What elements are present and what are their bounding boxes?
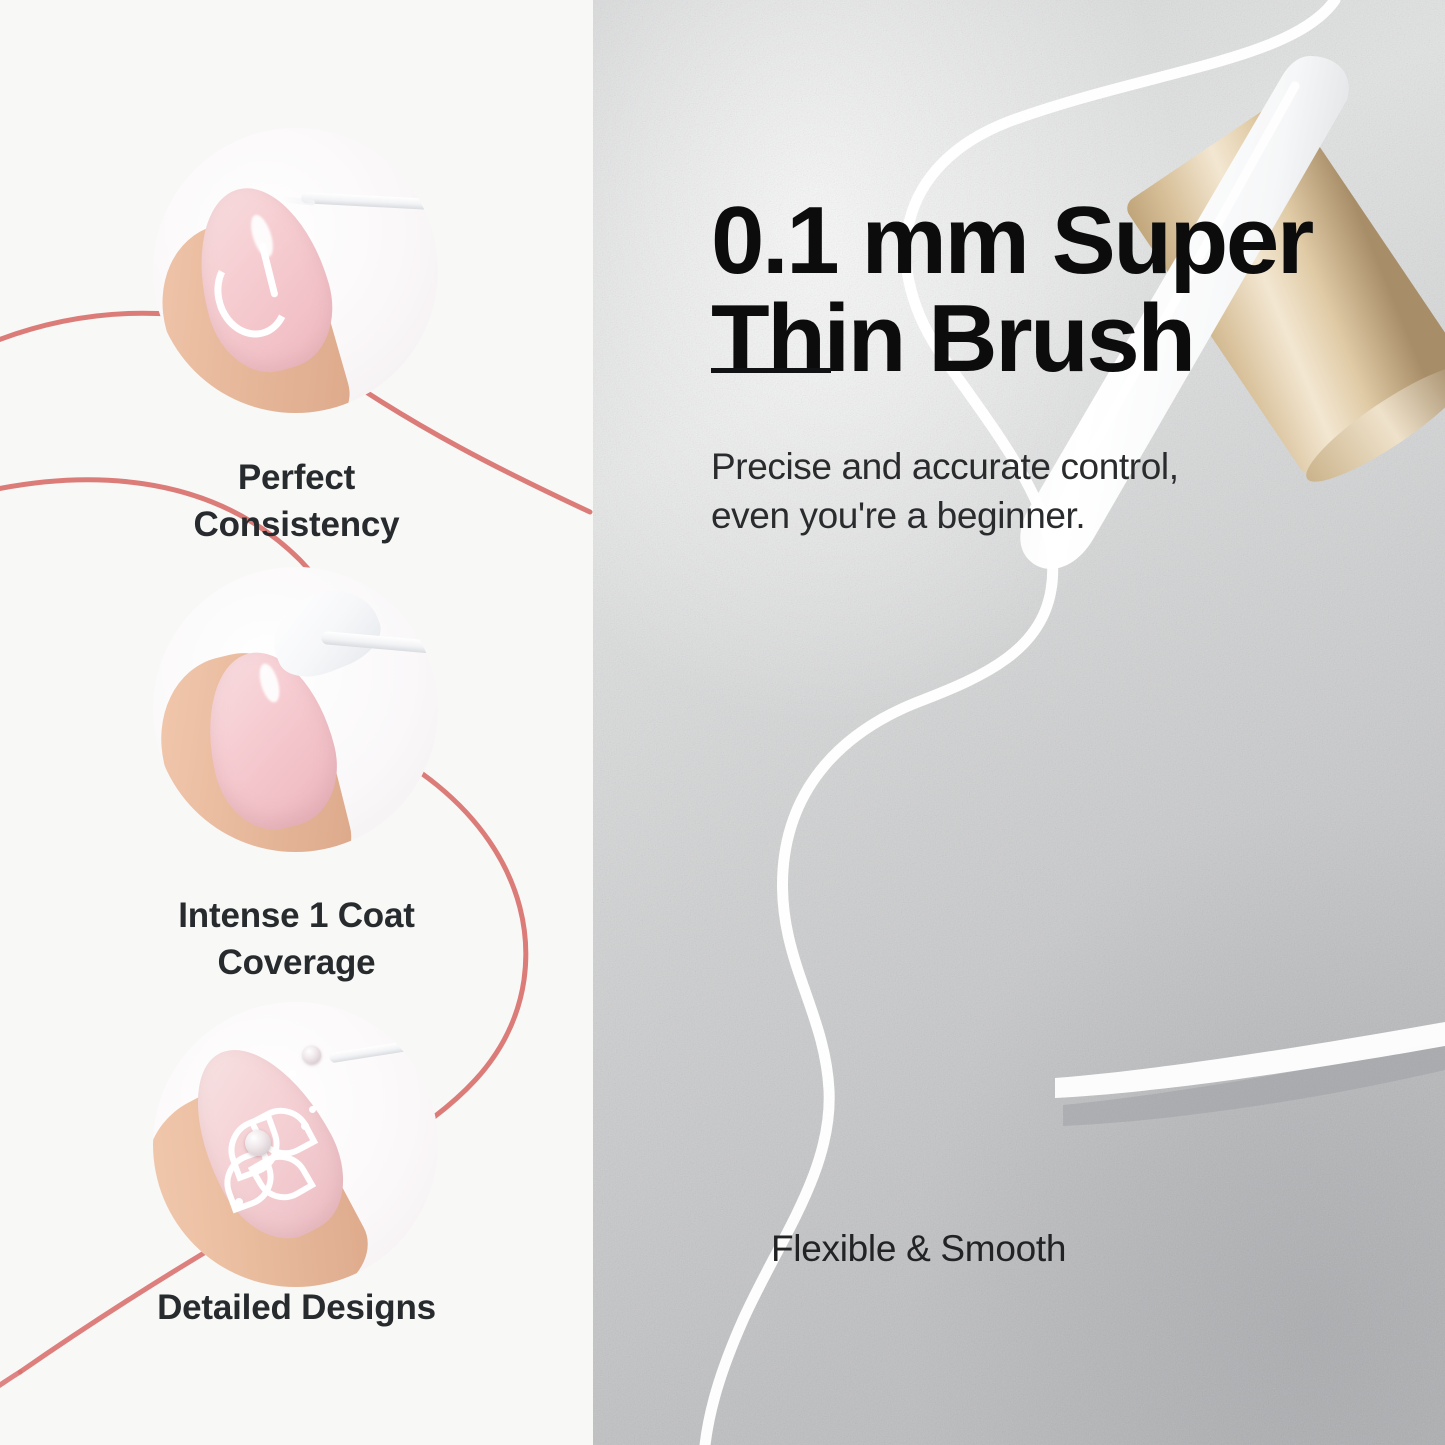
page-title: 0.1 mm Super Thin Brush xyxy=(711,192,1351,388)
feature-caption: Intense 1 Coat Coverage xyxy=(0,893,593,986)
product-feature-graphic: Perfect Consistency Intense 1 Coat Cover… xyxy=(0,0,1445,1445)
feature-caption-line: Detailed Designs xyxy=(157,1288,436,1327)
feature-caption-line: Perfect xyxy=(238,458,355,497)
feature-caption: Perfect Consistency xyxy=(0,455,593,548)
subtitle-line: even you're a beginner. xyxy=(711,492,1311,541)
feature-caption-line: Intense 1 Coat xyxy=(178,896,414,935)
subtitle-line: Precise and accurate control, xyxy=(711,443,1311,492)
feature-caption: Detailed Designs xyxy=(0,1285,593,1332)
subtitle: Precise and accurate control, even you'r… xyxy=(711,443,1311,541)
product-hero-panel: 0.1 mm Super Thin Brush Precise and accu… xyxy=(593,0,1445,1445)
flexible-smooth-caption: Flexible & Smooth xyxy=(771,1228,1066,1270)
feature-caption-line: Coverage xyxy=(218,943,376,982)
feature-image-detailed-designs xyxy=(153,1002,438,1287)
feature-image-perfect-consistency xyxy=(153,128,438,413)
left-features-panel: Perfect Consistency Intense 1 Coat Cover… xyxy=(0,0,593,1445)
headline-line: Thin Brush xyxy=(711,290,1351,388)
feature-caption-line: Consistency xyxy=(194,505,400,544)
headline-line: 0.1 mm Super xyxy=(711,192,1351,290)
title-divider-rule xyxy=(711,368,831,373)
feature-image-intense-coverage xyxy=(153,567,438,852)
